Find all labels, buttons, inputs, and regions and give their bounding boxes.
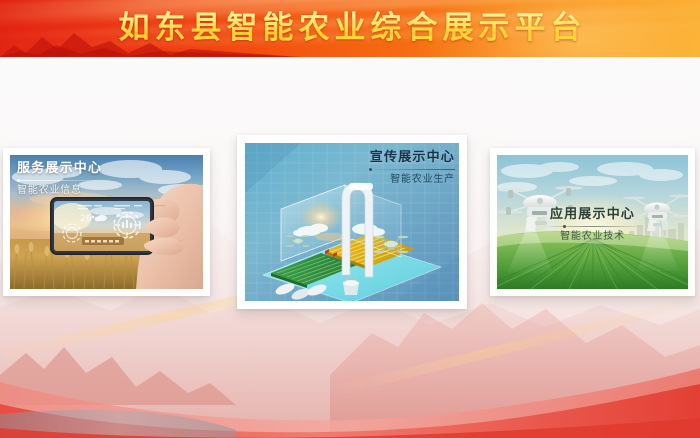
card-service-subtitle: 智能农业信息 <box>17 184 109 197</box>
card-service-center[interactable]: 26 <box>3 148 210 296</box>
card-service-overlay-text: 服务展示中心 智能农业信息 <box>17 160 109 197</box>
header-banner: 如东县智能农业综合展示平台 <box>0 0 700 57</box>
red-ribbon-waves <box>0 318 700 438</box>
card-application-title: 应用展示中心 <box>490 206 695 223</box>
poster-stage: 如东县智能农业综合展示平台 <box>0 0 700 438</box>
card-promotion-overlay-text: 宣传展示中心 智能农业生产 <box>369 149 455 186</box>
card-application-subtitle: 智能农业技术 <box>490 230 695 243</box>
card-application-divider <box>543 226 643 227</box>
smartphone-graphic: 26 <box>50 197 154 255</box>
card-promotion-divider <box>369 169 455 170</box>
card-promotion-subtitle: 智能农业生产 <box>369 173 455 186</box>
page-title: 如东县智能农业综合展示平台 <box>0 9 700 48</box>
card-service-divider <box>17 180 109 181</box>
bucket <box>343 278 359 296</box>
card-service-title: 服务展示中心 <box>17 160 109 177</box>
svg-text:26: 26 <box>80 214 92 224</box>
card-application-overlay-text: 应用展示中心 智能农业技术 <box>490 206 695 243</box>
card-promotion-center[interactable]: 宣传展示中心 智能农业生产 <box>237 135 467 309</box>
card-promotion-title: 宣传展示中心 <box>369 149 455 166</box>
card-application-center[interactable]: 应用展示中心 智能农业技术 <box>490 148 695 296</box>
